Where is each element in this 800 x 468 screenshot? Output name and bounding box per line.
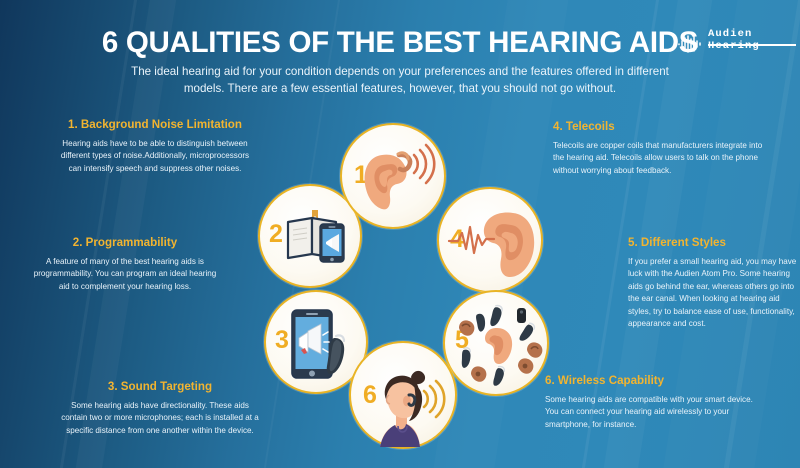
quality-heading-5: 5. Different Styles [628, 236, 798, 250]
quality-heading-2: 2. Programmability [30, 236, 220, 250]
quality-heading-4: 4. Telecoils [553, 120, 768, 134]
brand-logo[interactable]: Audien Hearing [678, 28, 796, 60]
quality-heading-6: 6. Wireless Capability [545, 374, 760, 388]
sound-wave-icon [678, 35, 704, 58]
quality-block-1: 1. Background Noise Limitation Hearing a… [55, 118, 255, 175]
ear-with-sound-waves-icon [342, 125, 444, 227]
logo-underline [708, 44, 796, 46]
quality-body-3: Some hearing aids have directionality. T… [60, 400, 260, 437]
ear-with-waveform-icon [439, 189, 541, 291]
quality-body-4: Telecoils are copper coils that manufact… [553, 140, 768, 177]
quality-heading-3: 3. Sound Targeting [60, 380, 260, 394]
quality-block-4: 4. Telecoils Telecoils are copper coils … [553, 120, 768, 177]
ear-with-hearing-aid-styles-icon [445, 292, 547, 394]
quality-block-6: 6. Wireless Capability Some hearing aids… [545, 374, 760, 431]
page-subtitle: The ideal hearing aid for your condition… [130, 63, 670, 97]
quality-body-5: If you prefer a small hearing aid, you m… [628, 256, 798, 330]
brand-name: Audien Hearing [708, 28, 796, 52]
quality-block-3: 3. Sound Targeting Some hearing aids hav… [60, 380, 260, 437]
quality-circle-6[interactable]: 6 [349, 341, 457, 449]
quality-body-2: A feature of many of the best hearing ai… [30, 256, 220, 293]
quality-body-6: Some hearing aids are compatible with yo… [545, 394, 760, 431]
quality-heading-1: 1. Background Noise Limitation [55, 118, 255, 132]
quality-circle-1[interactable]: 1 [340, 123, 446, 229]
quality-body-1: Hearing aids have to be able to distingu… [55, 138, 255, 175]
quality-block-2: 2. Programmability A feature of many of … [30, 236, 220, 293]
woman-profile-with-hearing-aid-icon [351, 343, 455, 447]
infographic-canvas: 6 QUALITIES OF THE BEST HEARING AIDS The… [0, 0, 800, 468]
quality-block-5: 5. Different Styles If you prefer a smal… [628, 236, 798, 330]
quality-circle-4[interactable]: 4 [437, 187, 543, 293]
